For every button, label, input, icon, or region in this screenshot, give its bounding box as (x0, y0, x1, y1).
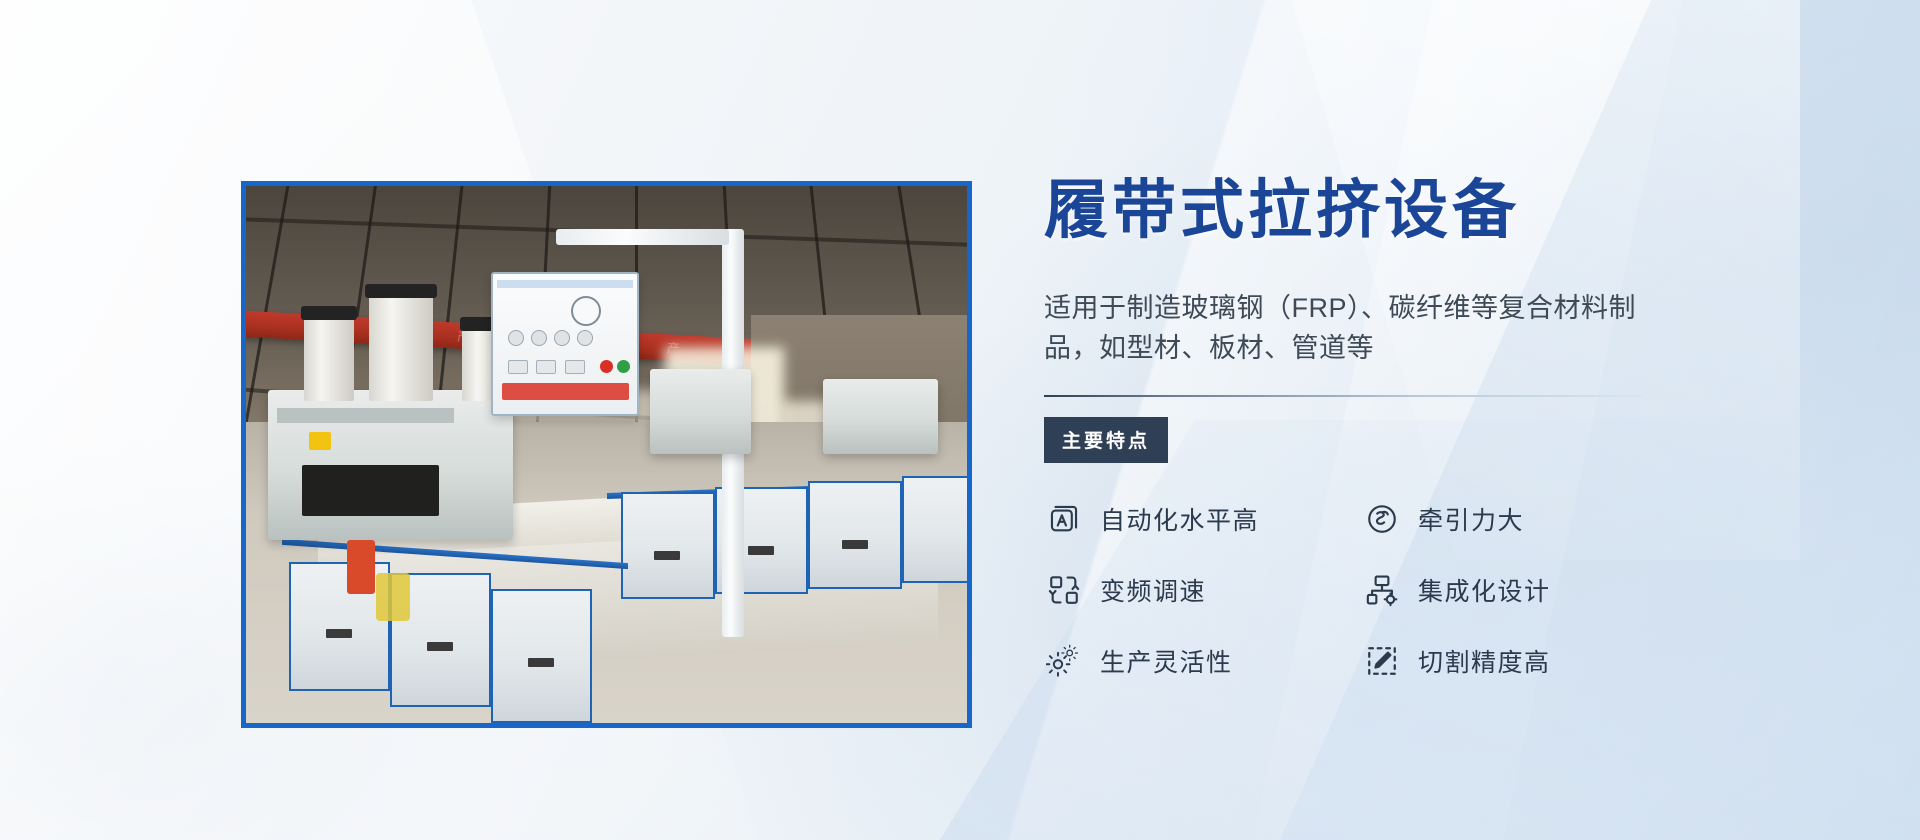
auxiliary-machine (650, 369, 751, 455)
feature-item-integrated[interactable]: 集成化设计 (1362, 570, 1662, 610)
yellow-barrel (376, 573, 410, 621)
fire-extinguisher (347, 540, 375, 594)
control-cabinet (621, 492, 715, 599)
feature-label: 切割精度高 (1418, 643, 1551, 679)
page-subtitle: 适用于制造玻璃钢（FRP）、碳纤维等复合材料制品，如型材、板材、管道等 (1044, 289, 1642, 369)
frequency-convert-icon (1044, 570, 1084, 610)
feature-list: 自动化水平高 牵引力大 (1044, 499, 1684, 681)
feature-item-traction[interactable]: 牵引力大 (1362, 499, 1662, 539)
feature-label: 变频调速 (1100, 572, 1206, 608)
front-cabinet (491, 589, 592, 723)
automation-a-icon (1044, 499, 1084, 539)
feature-item-cut-precision[interactable]: 切割精度高 (1362, 641, 1662, 681)
feature-item-automation[interactable]: 自动化水平高 (1044, 499, 1362, 539)
banner-content: 履带式拉挤设备 适用于制造玻璃钢（FRP）、碳纤维等复合材料制品，如型材、板材、… (1044, 176, 1704, 712)
control-cabinet (902, 476, 967, 583)
feature-label: 集成化设计 (1418, 572, 1551, 608)
machine-control-panel (491, 272, 639, 416)
feature-row: 生产灵活性 切割精度高 (1044, 641, 1684, 681)
gantry-beam (556, 229, 729, 245)
feature-item-frequency[interactable]: 变频调速 (1044, 570, 1362, 610)
page-title: 履带式拉挤设备 (1044, 176, 1704, 245)
product-photo: 生 产 3t 产 部 现 (246, 186, 967, 723)
integrated-design-icon (1362, 570, 1402, 610)
auxiliary-machine (823, 379, 938, 454)
feature-label: 自动化水平高 (1100, 501, 1259, 537)
resin-tank (304, 315, 354, 401)
feature-row: 自动化水平高 牵引力大 (1044, 499, 1684, 539)
feature-label: 牵引力大 (1418, 501, 1524, 537)
traction-spiral-icon (1362, 499, 1402, 539)
product-photo-frame: 生 产 3t 产 部 现 (241, 181, 972, 728)
feature-label: 生产灵活性 (1100, 643, 1233, 679)
resin-tank (369, 293, 434, 400)
product-hero-banner: 生 产 3t 产 部 现 (0, 0, 1920, 840)
control-cabinet (808, 481, 902, 588)
cut-precision-pen-icon (1362, 641, 1402, 681)
feature-item-flexibility[interactable]: 生产灵活性 (1044, 641, 1362, 681)
double-gear-icon (1044, 641, 1084, 681)
feature-row: 变频调速 集成化设计 (1044, 570, 1684, 610)
section-divider (1044, 395, 1642, 397)
pultrusion-machine (268, 390, 513, 540)
status-badge: 主要特点 (1044, 417, 1168, 463)
